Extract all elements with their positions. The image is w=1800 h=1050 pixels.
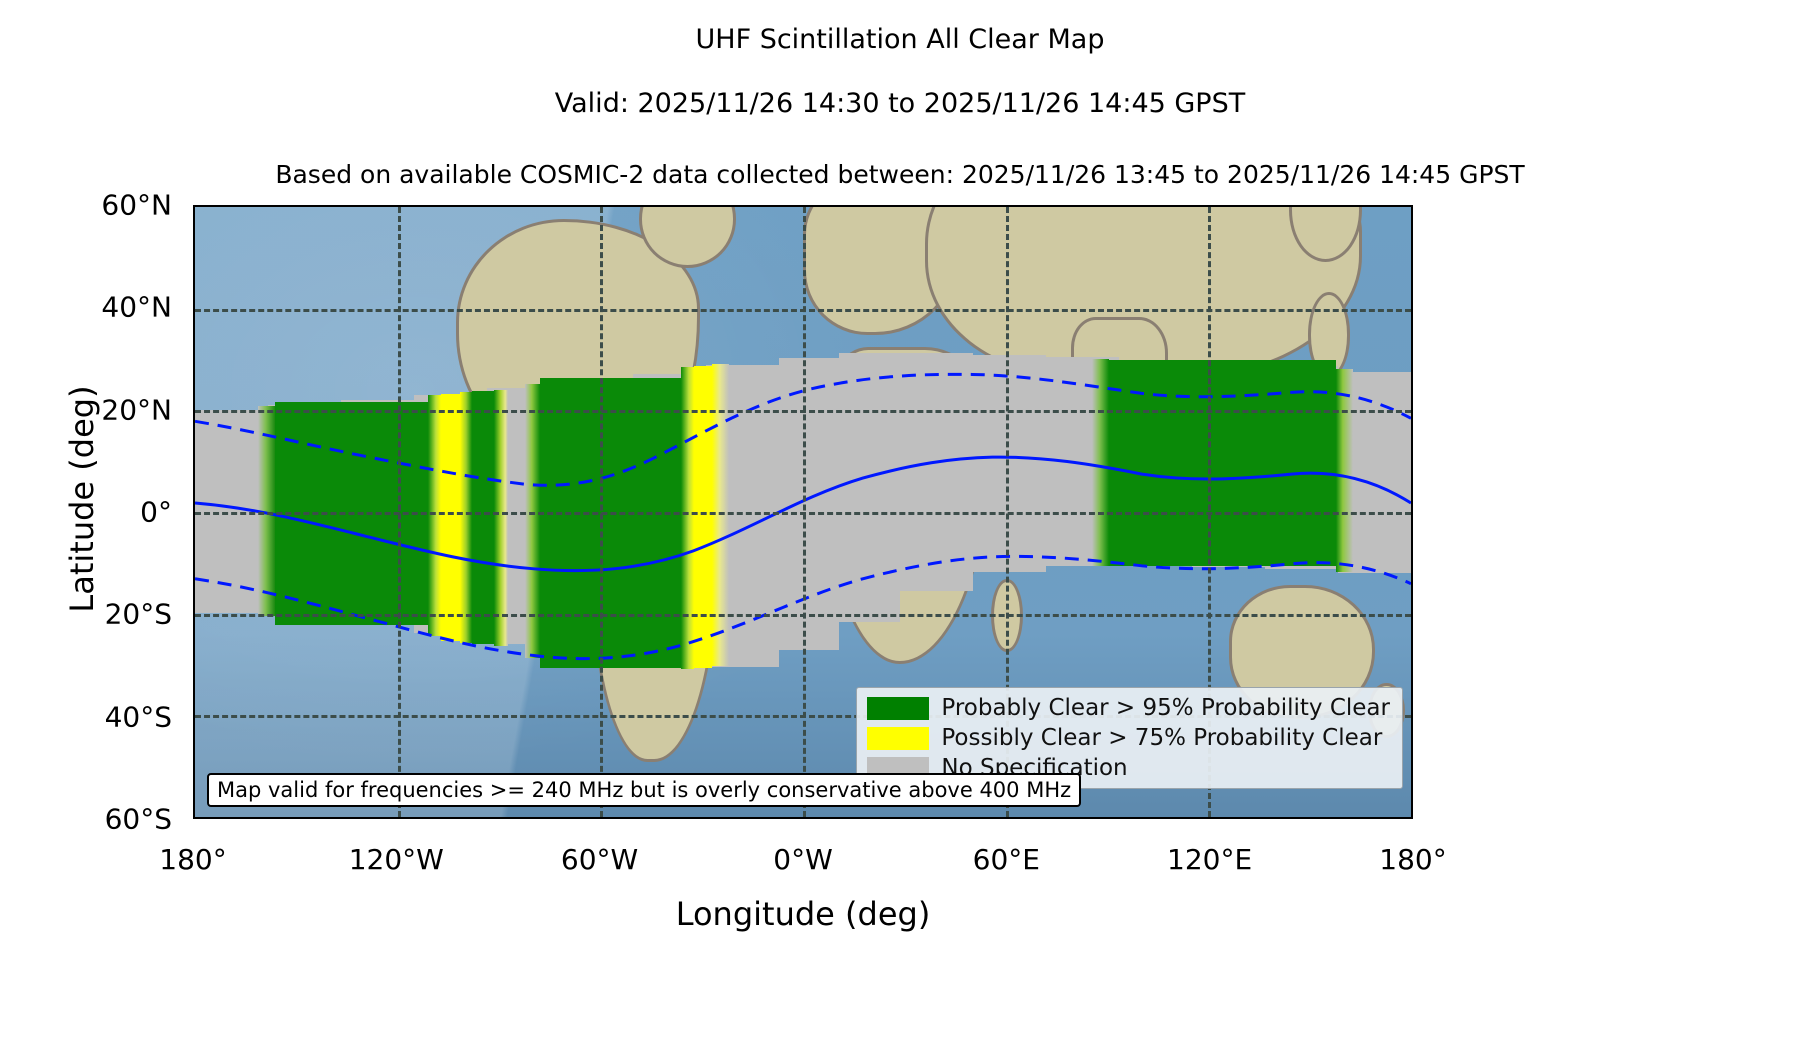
gridline-lon-60W — [600, 207, 603, 817]
map-canvas: Probably Clear > 95% Probability Clear P… — [195, 207, 1411, 817]
yellow-swatch — [867, 727, 929, 750]
x-tick-label-60E: 60°E — [916, 843, 1096, 876]
y-tick-label-40S: 40°S — [12, 700, 172, 733]
legend-item-probably-clear: Probably Clear > 95% Probability Clear — [867, 695, 1390, 721]
y-tick-label-40N: 40°N — [12, 291, 172, 324]
data-basis-title: Based on available COSMIC-2 data collect… — [0, 160, 1800, 189]
page-title: UHF Scintillation All Clear Map — [0, 24, 1800, 55]
x-axis-label: Longitude (deg) — [193, 895, 1413, 933]
legend-item-possibly-clear: Possibly Clear > 75% Probability Clear — [867, 725, 1390, 751]
y-tick-label-20N: 20°N — [12, 393, 172, 426]
y-tick-label-0: 0° — [12, 496, 172, 529]
legend-label-possibly-clear: Possibly Clear > 75% Probability Clear — [941, 725, 1382, 751]
gridline-lon-120W — [398, 207, 401, 817]
x-tick-label-0W: 0°W — [713, 843, 893, 876]
valid-time-title: Valid: 2025/11/26 14:30 to 2025/11/26 14… — [0, 88, 1800, 119]
y-tick-label-20S: 20°S — [12, 598, 172, 631]
green-swatch — [867, 697, 929, 720]
y-tick-label-60N: 60°N — [12, 189, 172, 222]
x-tick-label-60W: 60°W — [510, 843, 690, 876]
x-tick-label-120W: 120°W — [306, 843, 486, 876]
frequency-validity-note: Map valid for frequencies >= 240 MHz but… — [207, 773, 1081, 807]
gridline-lon-0 — [803, 207, 806, 817]
x-tick-label-120E: 120°E — [1120, 843, 1300, 876]
y-tick-label-60S: 60°S — [12, 803, 172, 836]
legend-label-probably-clear: Probably Clear > 95% Probability Clear — [941, 695, 1390, 721]
x-tick-label-180E: 180° — [1323, 843, 1503, 876]
x-tick-label-180W: 180° — [103, 843, 283, 876]
map-plot-area: Probably Clear > 95% Probability Clear P… — [193, 205, 1413, 819]
